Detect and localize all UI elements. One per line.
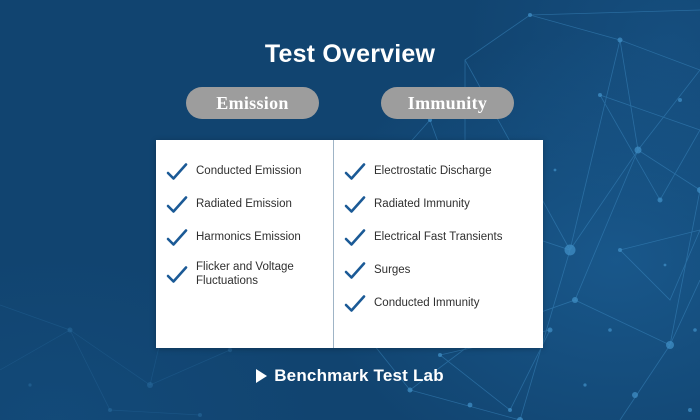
list-item-label: Surges <box>374 264 410 278</box>
check-icon <box>166 228 188 248</box>
checklist-immunity: Electrostatic Discharge Radiated Immunit… <box>344 162 533 314</box>
check-icon <box>344 195 366 215</box>
list-item-label: Radiated Immunity <box>374 198 470 212</box>
list-item-label: Conducted Emission <box>196 165 301 179</box>
pill-label-immunity: Immunity <box>408 93 487 114</box>
list-item[interactable]: Surges <box>344 261 533 281</box>
list-item-label: Conducted Immunity <box>374 297 479 311</box>
list-item-label: Harmonics Emission <box>196 231 301 245</box>
check-icon <box>344 261 366 281</box>
play-triangle-icon <box>256 369 267 383</box>
list-item[interactable]: Harmonics Emission <box>166 228 323 248</box>
list-item-label: Radiated Emission <box>196 198 292 212</box>
brand-name: Benchmark Test Lab <box>274 366 444 386</box>
check-icon <box>166 265 188 285</box>
check-icon <box>344 228 366 248</box>
pill-label-emission: Emission <box>216 93 288 114</box>
list-item[interactable]: Conducted Emission <box>166 162 323 182</box>
pill-header-immunity[interactable]: Immunity <box>381 87 514 119</box>
footer-brand: Benchmark Test Lab <box>0 366 700 386</box>
list-item-label: Electrical Fast Transients <box>374 231 502 245</box>
check-icon <box>166 162 188 182</box>
brand-name-primary: Benchmark <box>274 366 368 385</box>
list-item[interactable]: Electrical Fast Transients <box>344 228 533 248</box>
card-immunity: Electrostatic Discharge Radiated Immunit… <box>334 140 543 348</box>
slide-canvas: Test Overview Emission Immunity Conducte… <box>0 0 700 420</box>
brand-name-secondary: Test Lab <box>374 366 444 385</box>
pill-header-emission[interactable]: Emission <box>186 87 319 119</box>
list-item[interactable]: Conducted Immunity <box>344 294 533 314</box>
card-emission: Conducted Emission Radiated Emission Har… <box>156 140 334 348</box>
cards-container: Conducted Emission Radiated Emission Har… <box>156 140 543 348</box>
list-item[interactable]: Electrostatic Discharge <box>344 162 533 182</box>
check-icon <box>344 294 366 314</box>
page-title: Test Overview <box>0 40 700 69</box>
check-icon <box>166 195 188 215</box>
list-item[interactable]: Radiated Emission <box>166 195 323 215</box>
checklist-emission: Conducted Emission Radiated Emission Har… <box>166 162 323 288</box>
list-item[interactable]: Flicker and Voltage Fluctuations <box>166 261 323 288</box>
check-icon <box>344 162 366 182</box>
list-item-label: Electrostatic Discharge <box>374 165 492 179</box>
list-item-label: Flicker and Voltage Fluctuations <box>196 261 323 288</box>
list-item[interactable]: Radiated Immunity <box>344 195 533 215</box>
